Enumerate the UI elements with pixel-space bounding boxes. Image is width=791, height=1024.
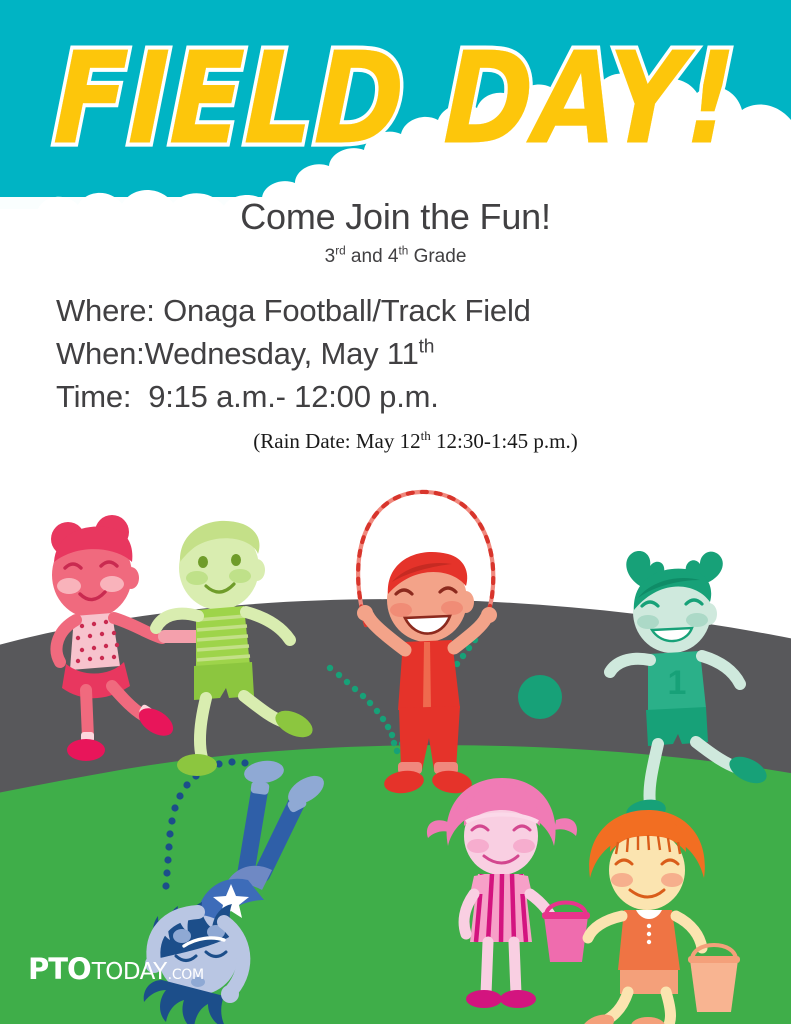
where-label: Where:	[56, 293, 163, 328]
text-content-area: Come Join the Fun! 3rd and 4th Grade Whe…	[0, 196, 791, 498]
grade-sup-2: th	[398, 245, 408, 258]
ball-icon	[518, 675, 562, 719]
when-sup: th	[419, 337, 435, 358]
pto-today-logo[interactable]: PTO TODAY .COM	[28, 955, 204, 984]
header-band	[0, 0, 791, 210]
grade-line: 3rd and 4th Grade	[0, 247, 791, 268]
event-details: Where: Onaga Football/Track Field When:W…	[0, 290, 791, 418]
raindate-suffix: 12:30-1:45 p.m.)	[431, 429, 578, 453]
logo-pto-text: PTO	[28, 955, 91, 984]
detail-time: Time: 9:15 a.m.- 12:00 p.m.	[56, 376, 791, 419]
subtitle: Come Join the Fun!	[0, 196, 791, 237]
grade-sup-1: rd	[335, 245, 345, 258]
time-label: Time:	[56, 379, 148, 414]
flyer-page: FIELD DAY! FIELD DAY! Come Join the Fun!…	[0, 0, 791, 1024]
grade-prefix: 3	[325, 246, 336, 267]
logo-today-text: TODAY	[92, 961, 167, 984]
raindate-prefix: (Rain Date: May 12	[253, 429, 420, 453]
detail-when: When:Wednesday, May 11th	[56, 333, 791, 376]
where-value: Onaga Football/Track Field	[163, 293, 531, 328]
logo-dotcom-text: .COM	[168, 968, 204, 982]
grade-suffix: Grade	[408, 246, 466, 267]
time-value: 9:15 a.m.- 12:00 p.m.	[148, 379, 438, 414]
rain-date-note: (Rain Date: May 12th 12:30-1:45 p.m.)	[0, 429, 791, 454]
jersey-number: 1	[668, 664, 687, 702]
raindate-sup: th	[421, 428, 431, 443]
grade-middle: and 4	[346, 246, 399, 267]
detail-where: Where: Onaga Football/Track Field	[56, 290, 791, 333]
illustration-scene: 1	[0, 470, 791, 1024]
when-label: When:	[56, 336, 145, 371]
when-value: Wednesday, May 11	[145, 336, 419, 371]
